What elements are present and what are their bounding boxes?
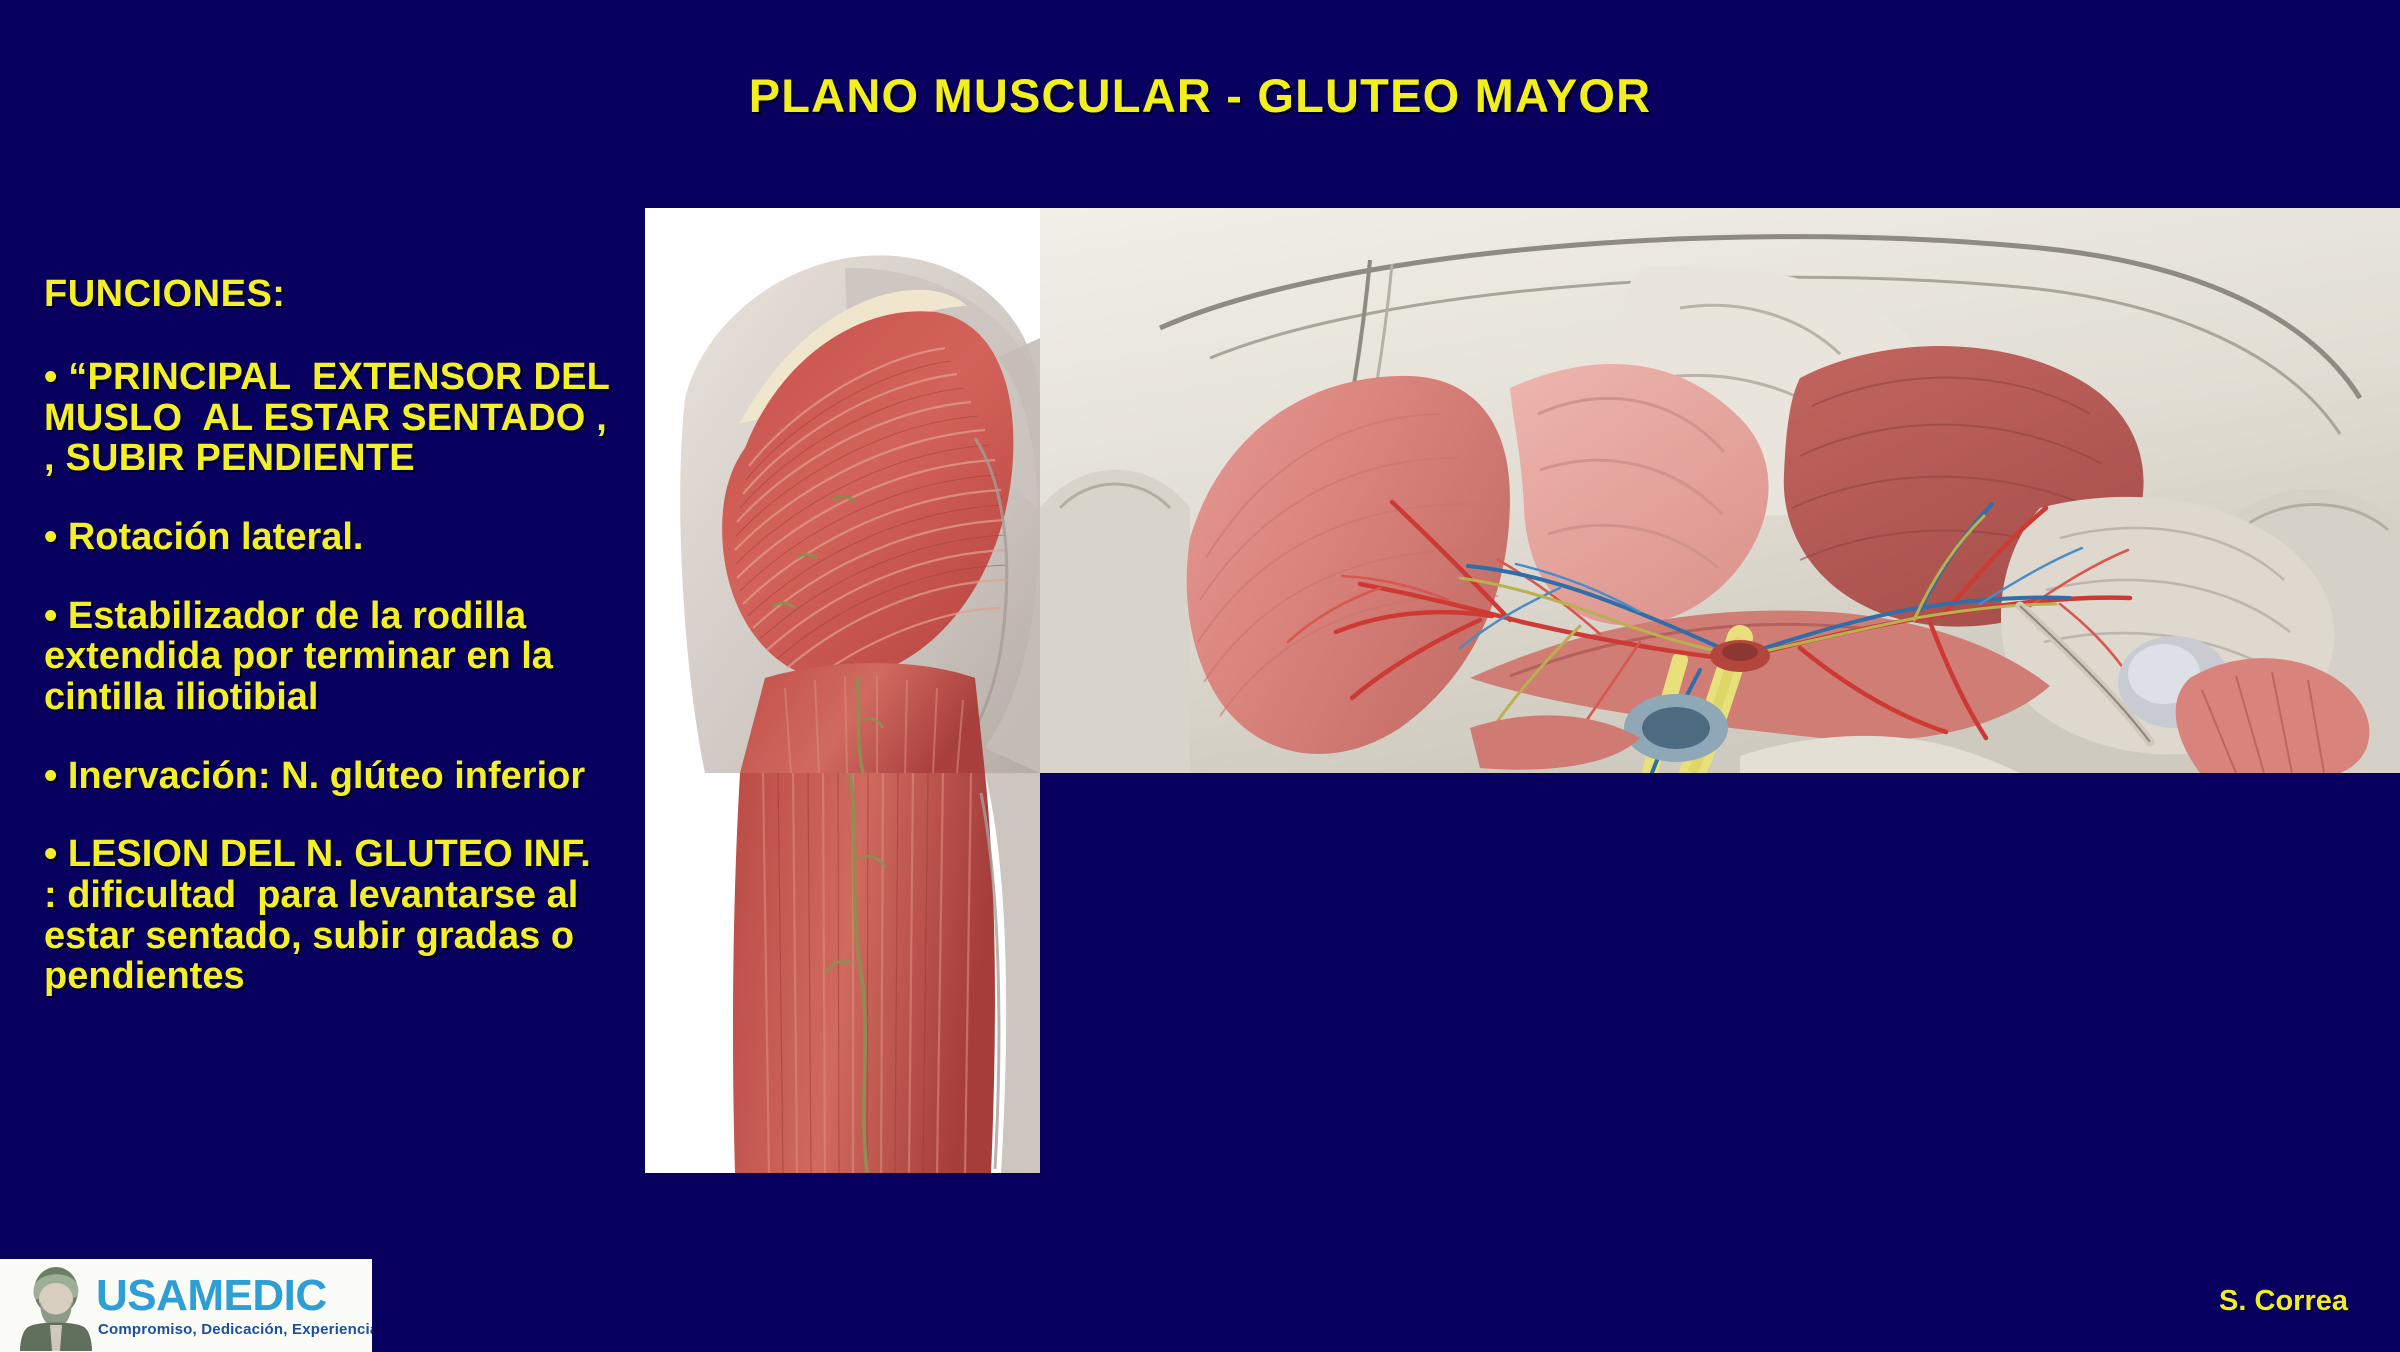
physician-figure-icon [14,1265,98,1351]
content-text-column: FUNCIONES: • “PRINCIPAL EXTENSOR DEL MUS… [44,275,664,1035]
slide-root: PLANO MUSCULAR - GLUTEO MAYOR FUNCIONES:… [0,0,2400,1352]
bullet-line: , SUBIR PENDIENTE [44,438,664,479]
bullet-line: • “PRINCIPAL EXTENSOR DEL [44,357,664,398]
gluteus-thigh-continuation-image [645,773,1040,1173]
bullet-estabilizador-rodilla: • Estabilizador de la rodilla extendida … [44,596,664,718]
bullet-line: • LESION DEL N. GLUTEO INF. [44,834,664,875]
bullet-line: MUSLO AL ESTAR SENTADO , [44,398,664,439]
bullet-line: : dificultad para levantarse al [44,875,664,916]
bullet-line: • Estabilizador de la rodilla [44,596,664,637]
funciones-heading: FUNCIONES: [44,275,664,313]
bullet-inervacion: • Inervación: N. glúteo inferior [44,756,664,797]
bullet-line: • Rotación lateral. [44,517,664,558]
bullet-line: • Inervación: N. glúteo inferior [44,756,664,797]
bullet-line: estar sentado, subir gradas o [44,916,664,957]
anatomy-image-panel [645,208,2400,773]
page-title: PLANO MUSCULAR - GLUTEO MAYOR [0,68,2400,123]
bullet-line: cintilla iliotibial [44,677,664,718]
gluteal-vessels-nerves-image [1040,208,2400,773]
bullet-rotacion-lateral: • Rotación lateral. [44,517,664,558]
bullet-principal-extensor: • “PRINCIPAL EXTENSOR DEL MUSLO AL ESTAR… [44,357,664,479]
usamedic-logo: USAMEDIC Compromiso, Dedicación, Experie… [0,1259,372,1352]
bullet-line: pendientes [44,956,664,997]
gluteus-maximus-image [645,208,1040,773]
logo-wordmark: USAMEDIC [96,1271,327,1321]
bullet-lesion-nervio-gluteo: • LESION DEL N. GLUTEO INF. : dificultad… [44,834,664,997]
author-credit: S. Correa [2219,1285,2348,1318]
bullet-line: extendida por terminar en la [44,636,664,677]
logo-tagline: Compromiso, Dedicación, Experiencia [98,1321,372,1338]
